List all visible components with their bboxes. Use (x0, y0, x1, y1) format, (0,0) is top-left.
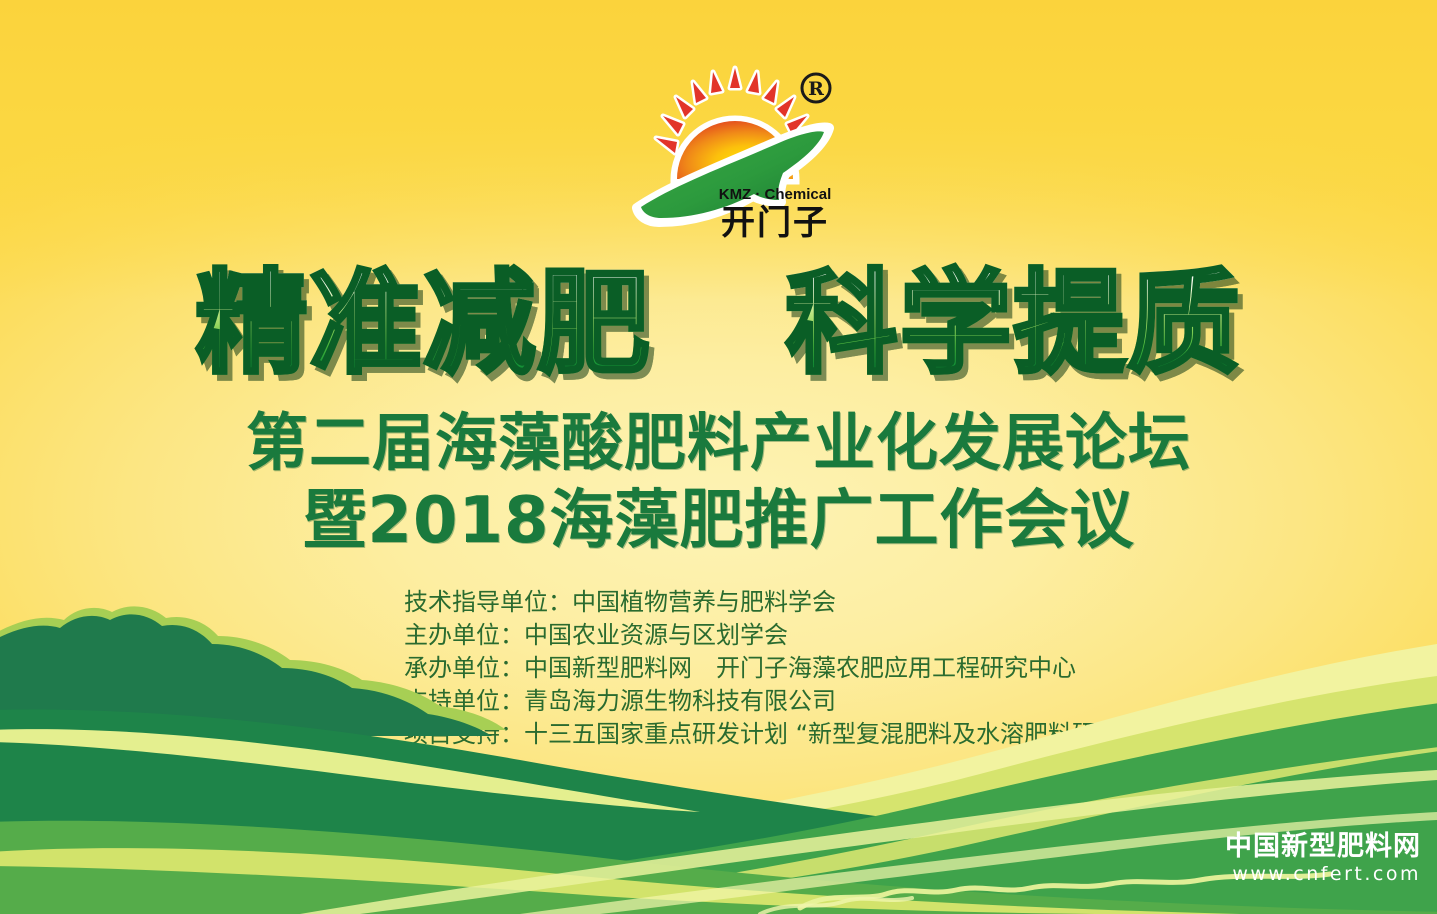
logo-brand-latin: KMZ · Chemical (719, 186, 832, 203)
landscape-illustration (0, 584, 1437, 914)
site-watermark: 中国新型肥料网 www.cnfert.com (1225, 832, 1421, 886)
company-logo: R KMZ · Chemical 开门子 (629, 62, 839, 247)
registered-trademark-icon: R (802, 74, 830, 102)
headline-part-1: 精准减肥 (196, 268, 652, 380)
watermark-site-name: 中国新型肥料网 (1225, 832, 1421, 862)
watermark-site-url: www.cnfert.com (1225, 862, 1421, 886)
headline-part-2: 科学提质 (786, 268, 1242, 380)
svg-text:R: R (808, 78, 824, 100)
conference-banner: R KMZ · Chemical 开门子 精准减肥 科学提质 第二届海藻酸肥料产… (0, 0, 1437, 914)
subtitle-line-1: 第二届海藻酸肥料产业化发展论坛 (0, 404, 1437, 482)
subtitle: 第二届海藻酸肥料产业化发展论坛 暨2018海藻肥推广工作会议 (0, 404, 1437, 560)
headline: 精准减肥 科学提质 (0, 268, 1437, 380)
logo-brand-cn: 开门子 (721, 203, 829, 243)
subtitle-line-2: 暨2018海藻肥推广工作会议 (0, 482, 1437, 560)
